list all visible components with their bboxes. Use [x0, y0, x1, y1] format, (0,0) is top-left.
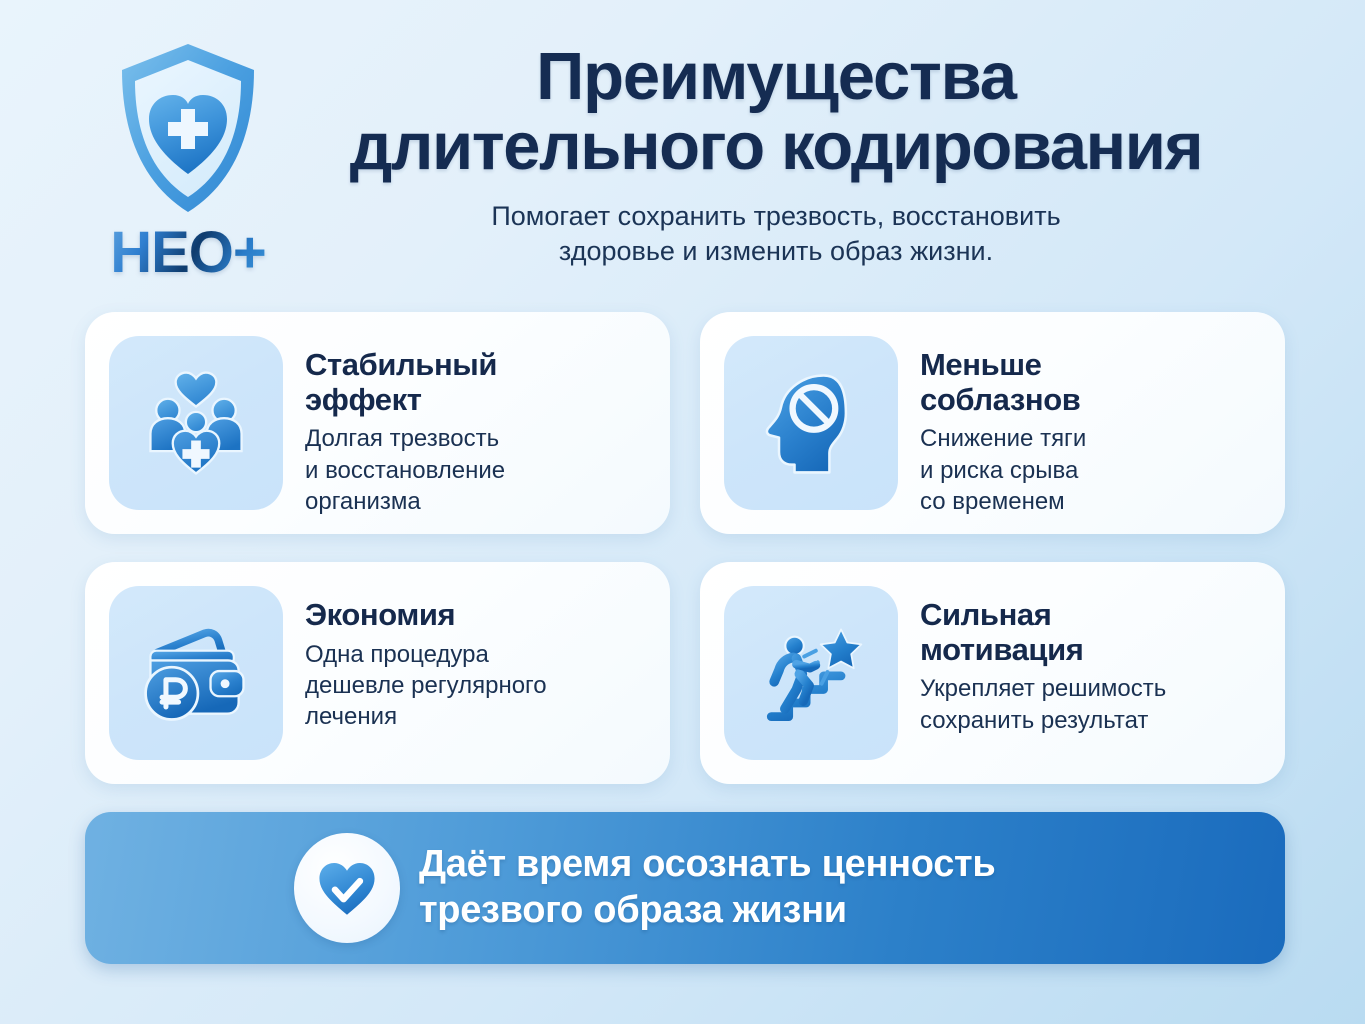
page-title-line-1: Преимущества — [536, 39, 1016, 114]
benefit-card-description: Долгая трезвость и восстановление органи… — [305, 423, 644, 517]
benefit-card[interactable]: Стабильный эффект Долгая трезвость и вос… — [85, 312, 670, 534]
benefit-card-description: Укрепляет решимость сохранить результат — [920, 673, 1259, 735]
brand-logo: НЕО+ — [78, 38, 298, 282]
benefit-card-desc-line-1: Одна процедура — [305, 641, 489, 668]
benefit-card-desc-line-2: сохранить результат — [920, 707, 1148, 734]
footer-banner[interactable]: Даёт время осознать ценность трезвого об… — [85, 812, 1285, 964]
benefit-card-desc-line-1: Снижение тяги — [920, 425, 1086, 452]
benefit-card[interactable]: Экономия Одна процедура дешевле регулярн… — [85, 562, 670, 784]
benefit-card-description: Снижение тяги и риска срыва со временем — [920, 423, 1259, 517]
benefit-card-title-line-2: мотивация — [920, 632, 1083, 667]
heart-check-icon — [294, 833, 400, 943]
benefit-card-text: Меньше соблазнов Снижение тяги и риска с… — [898, 336, 1259, 517]
benefit-card-desc-line-3: лечения — [305, 703, 397, 730]
footer-banner-line-1: Даёт время осознать ценность — [419, 842, 995, 888]
benefit-card-title: Стабильный эффект — [305, 348, 644, 417]
head-prohibition-icon — [724, 336, 898, 510]
footer-banner-line-2: трезвого образа жизни — [419, 888, 995, 934]
benefit-card-grid: Стабильный эффект Долгая трезвость и вос… — [85, 312, 1285, 784]
infographic-root: НЕО+ Преимущества длительного кодировани… — [0, 0, 1365, 1024]
benefit-card-title-line-2: соблазнов — [920, 382, 1080, 417]
benefit-card-desc-line-2: и риска срыва — [920, 457, 1078, 484]
shield-heart-plus-icon — [113, 38, 263, 220]
benefit-card-title: Меньше соблазнов — [920, 348, 1259, 417]
benefit-card-title-line-1: Стабильный — [305, 347, 497, 382]
benefit-card-title: Экономия — [305, 598, 644, 633]
benefit-card-title-line-1: Экономия — [305, 597, 455, 632]
family-heart-plus-icon — [109, 336, 283, 510]
benefit-card-title-line-1: Меньше — [920, 347, 1042, 382]
benefit-card-desc-line-1: Укрепляет решимость — [920, 675, 1166, 702]
benefit-card[interactable]: Меньше соблазнов Снижение тяги и риска с… — [700, 312, 1285, 534]
benefit-card-title: Сильная мотивация — [920, 598, 1259, 667]
title-block: Преимущества длительного кодирования Пом… — [276, 42, 1276, 270]
page-title-line-2: длительного кодирования — [276, 112, 1276, 182]
benefit-card-desc-line-1: Долгая трезвость — [305, 425, 499, 452]
page-subtitle: Помогает сохранить трезвость, восстанови… — [276, 199, 1276, 270]
benefit-card-desc-line-3: организма — [305, 488, 421, 515]
benefit-card-description: Одна процедура дешевле регулярного лечен… — [305, 639, 644, 733]
benefit-card[interactable]: Сильная мотивация Укрепляет решимость со… — [700, 562, 1285, 784]
benefit-card-desc-line-2: и восстановление — [305, 457, 505, 484]
page-subtitle-line-1: Помогает сохранить трезвость, восстанови… — [491, 201, 1060, 231]
benefit-card-desc-line-3: со временем — [920, 488, 1065, 515]
benefit-card-title-line-1: Сильная — [920, 597, 1051, 632]
page-subtitle-line-2: здоровье и изменить образ жизни. — [559, 236, 993, 266]
benefit-card-desc-line-2: дешевле регулярного — [305, 672, 547, 699]
benefit-card-text: Экономия Одна процедура дешевле регулярн… — [283, 586, 644, 732]
benefit-card-title-line-2: эффект — [305, 382, 422, 417]
wallet-ruble-icon — [109, 586, 283, 760]
page-title: Преимущества длительного кодирования — [276, 42, 1276, 183]
header: НЕО+ Преимущества длительного кодировани… — [0, 0, 1365, 300]
benefit-card-text: Сильная мотивация Укрепляет решимость со… — [898, 586, 1259, 736]
benefit-card-text: Стабильный эффект Долгая трезвость и вос… — [283, 336, 644, 517]
brand-wordmark: НЕО+ — [78, 224, 298, 282]
stairs-star-runner-icon — [724, 586, 898, 760]
